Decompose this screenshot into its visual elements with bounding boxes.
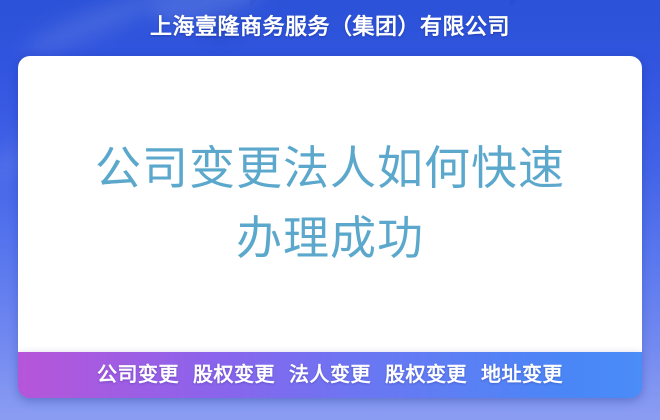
content-card: 公司变更法人如何快速 办理成功 [18, 56, 642, 352]
headline-line-1: 公司变更法人如何快速 [52, 134, 608, 204]
headline-line-2: 办理成功 [52, 204, 608, 274]
tag-item[interactable]: 地址变更 [481, 363, 563, 387]
poster-canvas: 上海壹隆商务服务（集团）有限公司 公司变更法人如何快速 办理成功 公司变更 股权… [0, 0, 660, 420]
poster-header: 上海壹隆商务服务（集团）有限公司 [0, 12, 660, 42]
tag-item[interactable]: 公司变更 [97, 363, 179, 387]
content-card-inner: 公司变更法人如何快速 办理成功 [18, 134, 642, 274]
tag-list: 公司变更 股权变更 法人变更 股权变更 地址变更 [97, 363, 563, 387]
tag-item[interactable]: 股权变更 [385, 363, 467, 387]
tag-item[interactable]: 股权变更 [193, 363, 275, 387]
tag-item[interactable]: 法人变更 [289, 363, 371, 387]
tag-bar: 公司变更 股权变更 法人变更 股权变更 地址变更 [18, 352, 642, 398]
company-name-title: 上海壹隆商务服务（集团）有限公司 [150, 12, 510, 42]
headline: 公司变更法人如何快速 办理成功 [52, 134, 608, 274]
